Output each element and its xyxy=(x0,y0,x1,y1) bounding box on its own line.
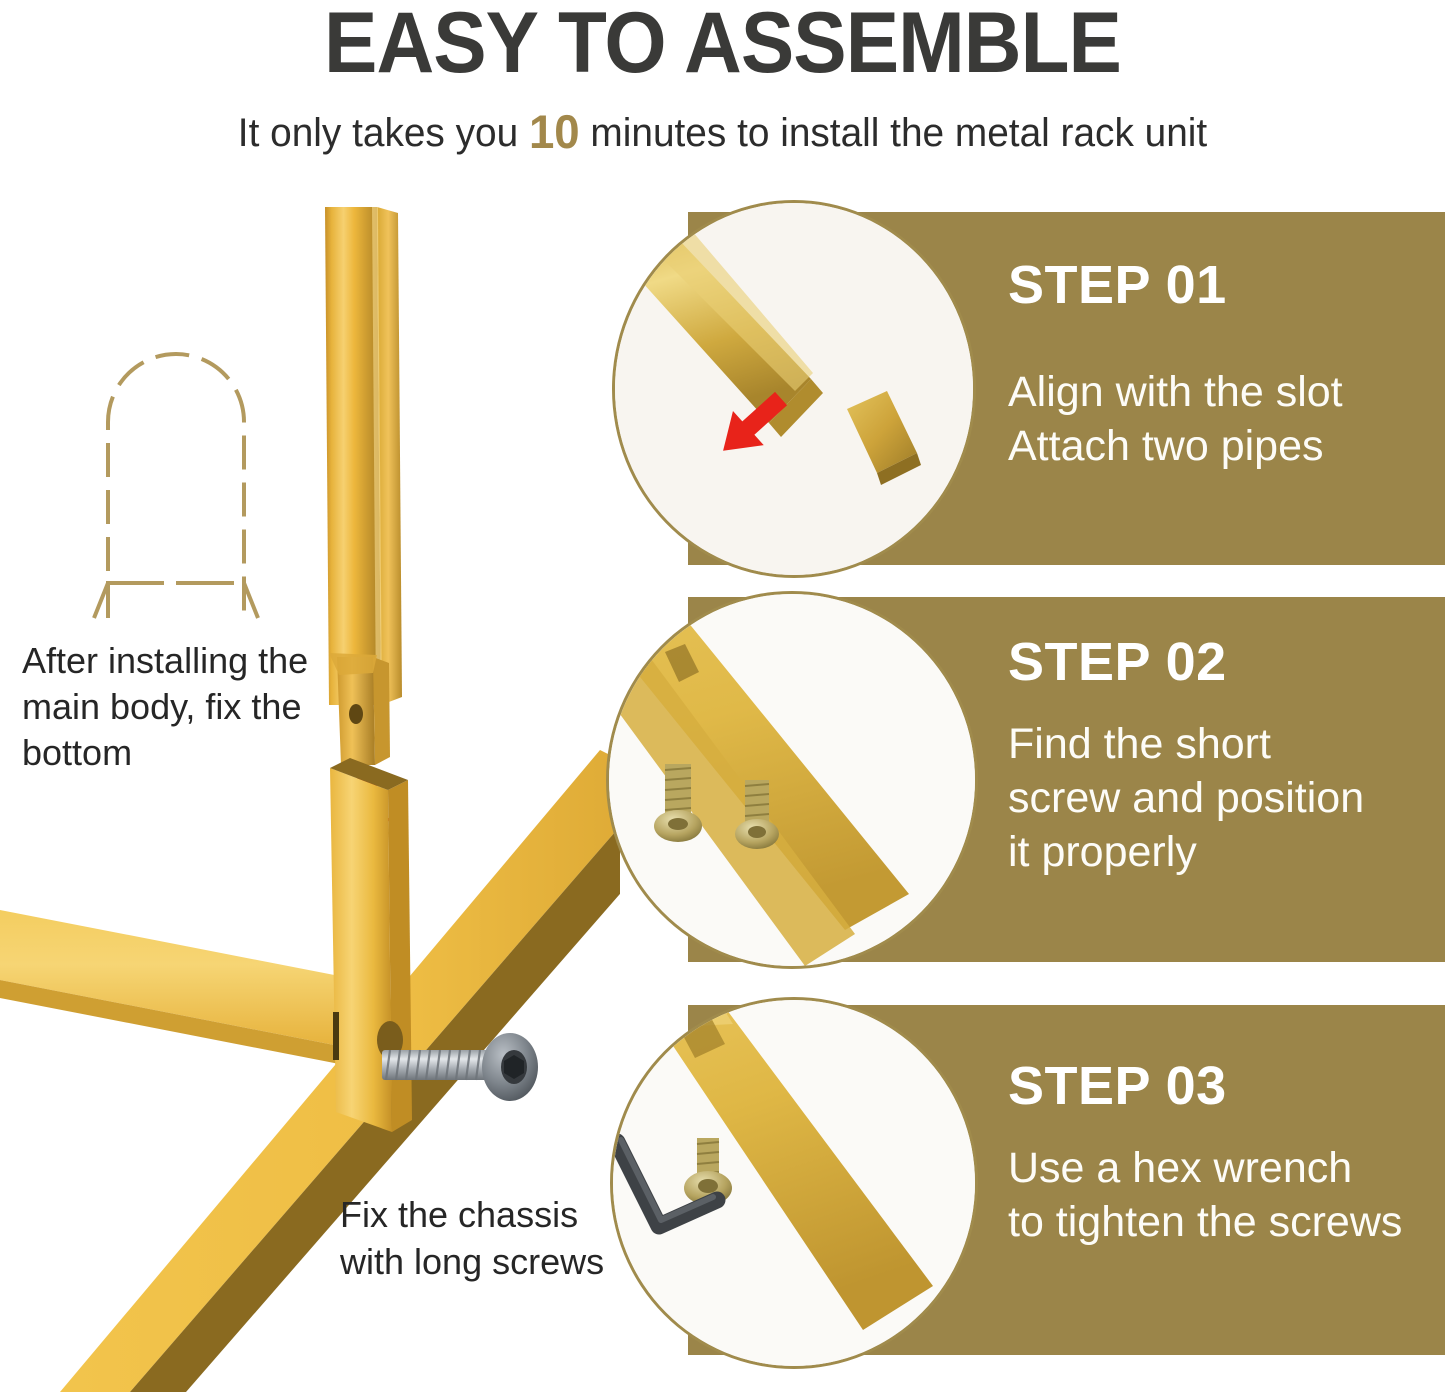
chassis-caption-line-2: with long screws xyxy=(340,1239,640,1286)
chassis-caption: Fix the chassis with long screws xyxy=(340,1192,640,1286)
subtitle-after: minutes to install the metal rack unit xyxy=(580,111,1208,155)
step-03-panel[interactable]: STEP 03 Use a hex wrench to tighten the … xyxy=(688,1005,1445,1355)
page-title: EASY TO ASSEMBLE xyxy=(51,0,1395,93)
subtitle-accent-number: 10 xyxy=(529,105,580,158)
step-02-line-2: screw and position xyxy=(1008,771,1364,825)
step-02-line-1: Find the short xyxy=(1008,717,1364,771)
step-03-title: STEP 03 xyxy=(1008,1055,1227,1117)
step-01-panel[interactable]: STEP 01 Align with the slot Attach two p… xyxy=(688,212,1445,565)
page-subtitle: It only takes you 10 minutes to install … xyxy=(22,104,1424,159)
step-01-photo xyxy=(612,200,976,578)
chassis-caption-line-1: Fix the chassis xyxy=(340,1192,640,1239)
step-01-body: Align with the slot Attach two pipes xyxy=(1008,365,1343,473)
step-03-line-1: Use a hex wrench xyxy=(1008,1141,1402,1195)
step-02-line-3: it properly xyxy=(1008,825,1364,879)
dashed-arch-frame-icon xyxy=(86,330,266,620)
arch-caption-line-2: main body, fix the xyxy=(22,684,322,730)
long-hex-screw-icon xyxy=(378,1022,548,1112)
step-01-line-1: Align with the slot xyxy=(1008,365,1343,419)
subtitle-before: It only takes you xyxy=(238,111,529,155)
step-01-line-2: Attach two pipes xyxy=(1008,419,1343,473)
step-02-photo xyxy=(606,591,978,969)
step-02-panel[interactable]: STEP 02 Find the short screw and positio… xyxy=(688,597,1445,962)
step-03-body: Use a hex wrench to tighten the screws xyxy=(1008,1141,1402,1249)
step-02-body: Find the short screw and position it pro… xyxy=(1008,717,1364,880)
step-01-title: STEP 01 xyxy=(1008,254,1227,316)
step-03-line-2: to tighten the screws xyxy=(1008,1195,1402,1249)
infographic-page: EASY TO ASSEMBLE It only takes you 10 mi… xyxy=(0,0,1445,1392)
step-02-title: STEP 02 xyxy=(1008,631,1227,693)
arch-caption-line-1: After installing the xyxy=(22,638,322,684)
gold-square-pipe-icon xyxy=(315,205,425,780)
step-03-photo xyxy=(610,997,978,1369)
